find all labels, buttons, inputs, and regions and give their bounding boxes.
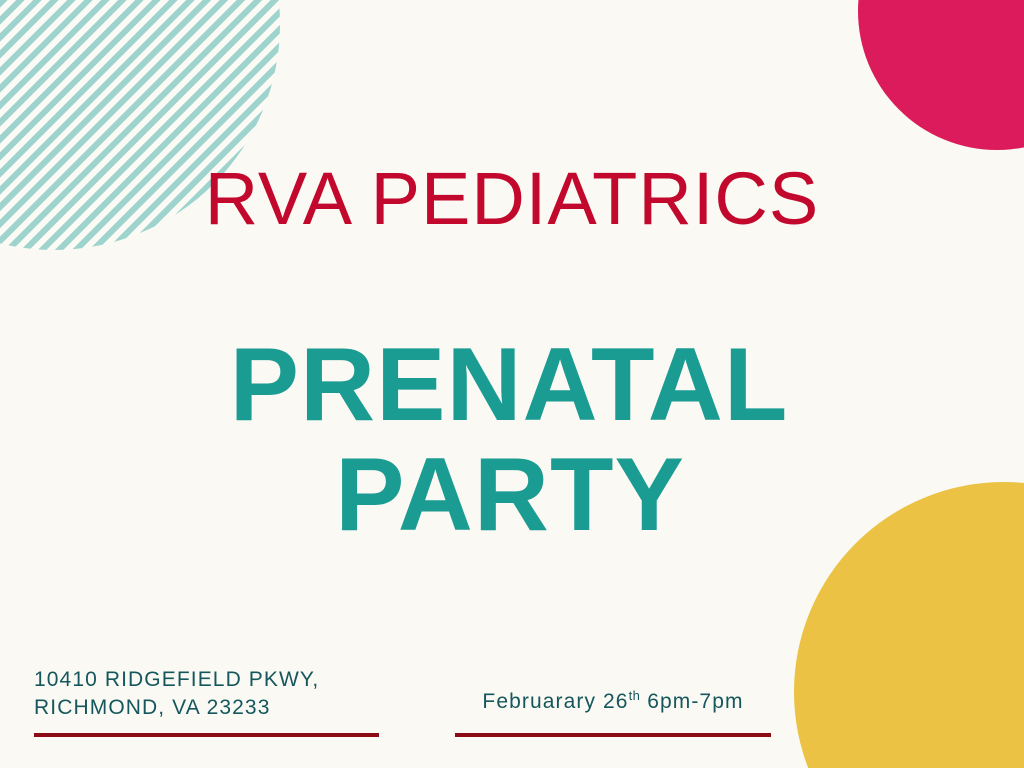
event-date: Februarary 26 [482,690,628,713]
venue-address: 10410 RIDGEFIELD PKWY, RICHMOND, VA 2323… [34,666,394,721]
event-flyer: RVA PEDIATRICS PRENATAL PARTY 10410 RIDG… [0,0,1024,768]
date-underline [455,733,771,737]
address-line-1: 10410 RIDGEFIELD PKWY, [34,666,394,694]
event-title: PRENATAL PARTY [0,330,1024,550]
event-time-range: 6pm-7pm [647,690,743,713]
address-underline [34,733,379,737]
pink-circle-decoration [858,0,1024,150]
event-schedule: Februarary 26th 6pm-7pm [455,688,771,715]
brand-title: RVA PEDIATRICS [0,162,1024,236]
address-line-2: RICHMOND, VA 23233 [34,694,394,722]
event-title-line-1: PRENATAL [0,330,1024,440]
address-text: 10410 RIDGEFIELD PKWY, RICHMOND, VA 2323… [34,666,394,721]
date-ordinal-suffix: th [629,688,641,703]
event-title-line-2: PARTY [0,440,1024,550]
date-text: Februarary 26th 6pm-7pm [455,688,771,715]
